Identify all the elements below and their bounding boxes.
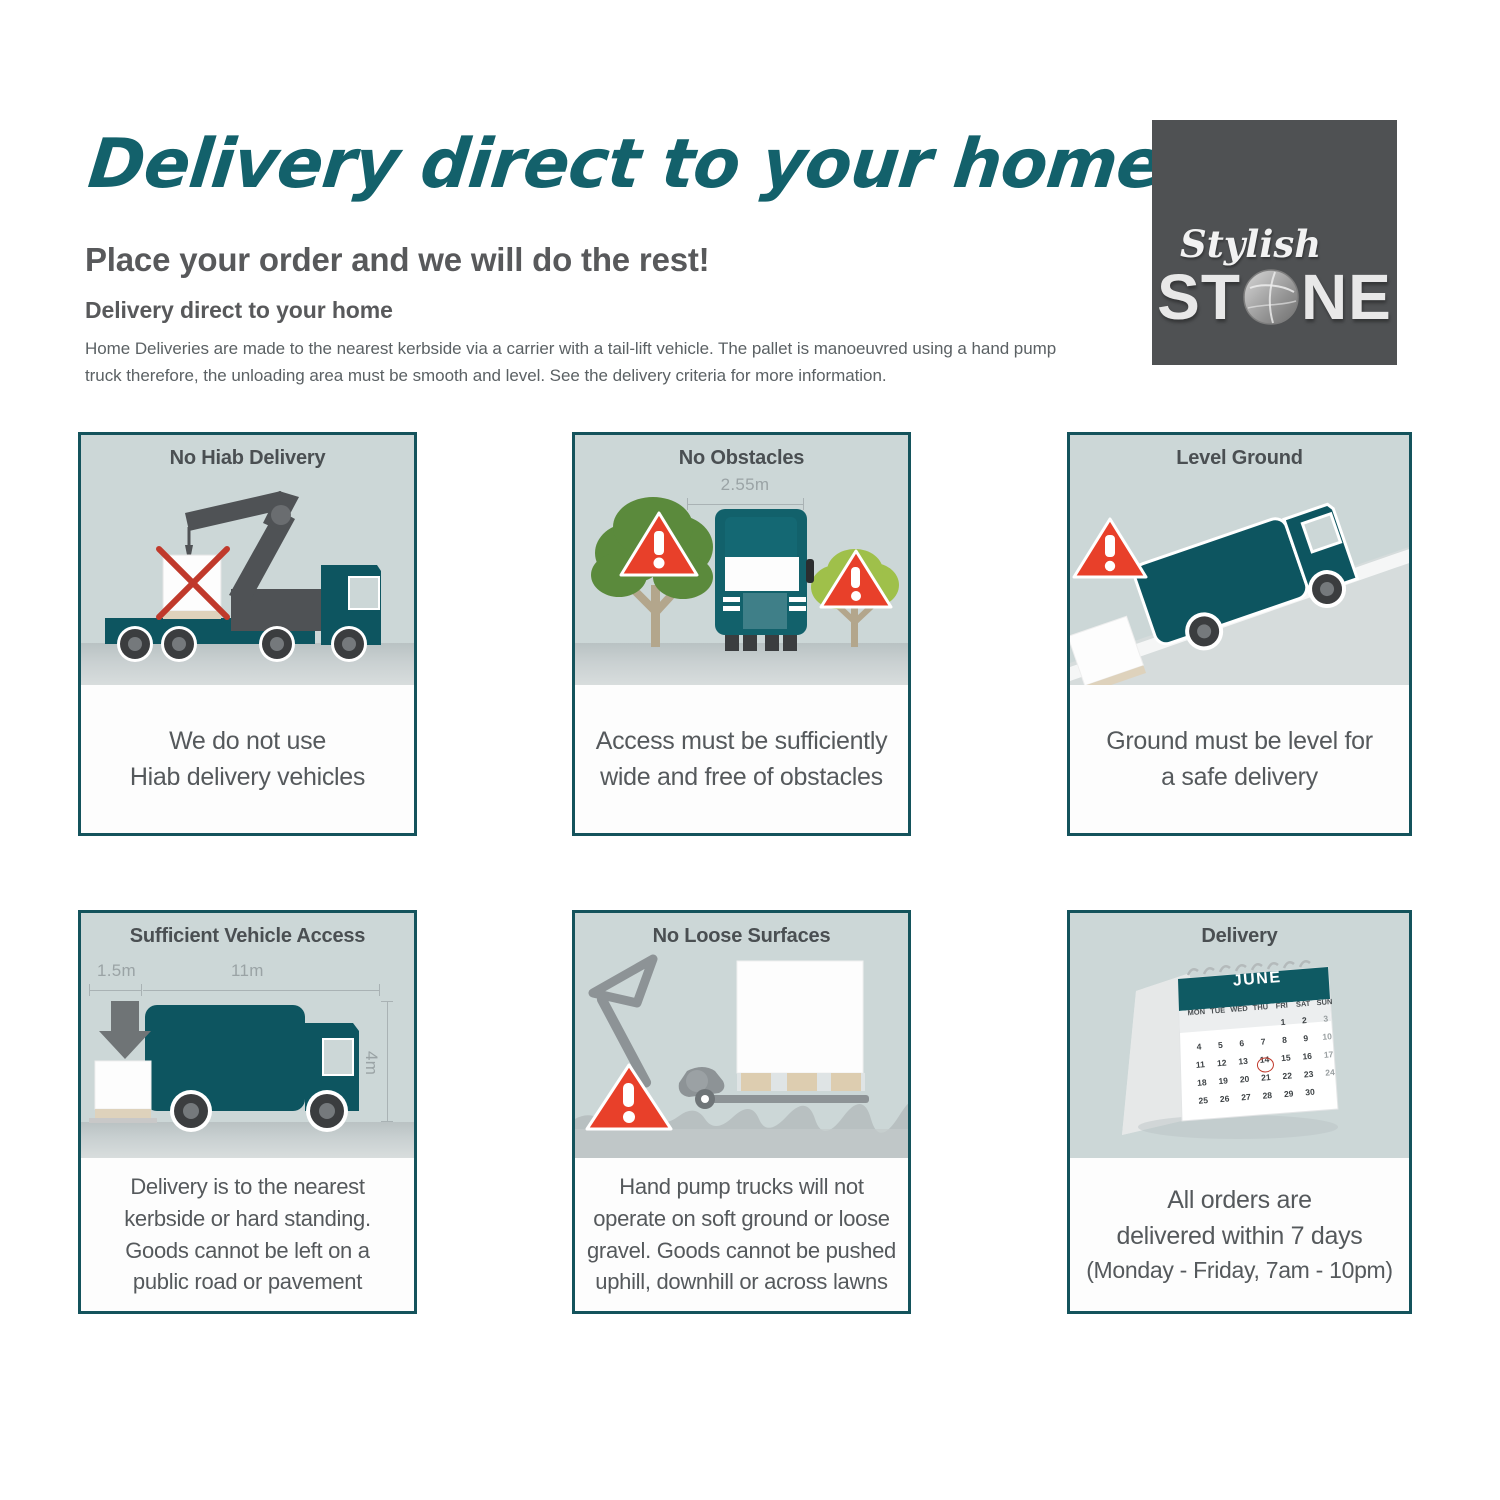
front-truck-with-trees-illustration bbox=[575, 435, 908, 685]
calendar-day: 6 bbox=[1231, 1037, 1254, 1057]
calendar-day: 28 bbox=[1256, 1090, 1279, 1110]
card-illustration-loose-surfaces: No Loose Surfaces bbox=[575, 913, 908, 1158]
card-illustration-obstacles: No Obstacles 2.55m bbox=[575, 435, 908, 685]
caption-subline: (Monday - Friday, 7am - 10pm) bbox=[1086, 1254, 1393, 1287]
calendar-highlight-circle bbox=[1257, 1056, 1275, 1072]
hiab-truck-illustration bbox=[81, 435, 414, 685]
logo-script-text: Stylish bbox=[1180, 226, 1321, 263]
calendar-day: 23 bbox=[1298, 1068, 1321, 1088]
calendar-day: 30 bbox=[1299, 1086, 1322, 1106]
calendar-day-highlighted: 14 bbox=[1253, 1054, 1276, 1074]
card-no-loose-surfaces: No Loose Surfaces bbox=[572, 910, 911, 1314]
card-title: Delivery bbox=[1070, 925, 1409, 948]
weekday-sun: SUN bbox=[1313, 997, 1335, 1008]
page-title: Delivery direct to your home bbox=[85, 128, 1093, 201]
card-title: No Loose Surfaces bbox=[575, 925, 908, 948]
card-no-obstacles: No Obstacles 2.55m bbox=[572, 432, 911, 836]
calendar-day: 18 bbox=[1191, 1077, 1214, 1097]
calendar-day: 20 bbox=[1233, 1073, 1256, 1093]
card-illustration-calendar: Delivery bbox=[1070, 913, 1409, 1158]
logo-word-part1: ST bbox=[1157, 265, 1241, 329]
warning-triangle-icon bbox=[1074, 519, 1146, 577]
calendar-month-label: JUNE bbox=[1179, 965, 1336, 995]
tilted-truck-on-slope-illustration bbox=[1070, 435, 1409, 685]
card-caption: Hand pump trucks will not operate on sof… bbox=[575, 1158, 908, 1311]
pallet-truck-on-gravel-illustration bbox=[575, 913, 908, 1158]
card-illustration-vehicle-access: Sufficient Vehicle Access 1.5m 11m 4m bbox=[81, 913, 414, 1158]
calendar-day: 12 bbox=[1211, 1057, 1234, 1077]
intro-paragraph: Home Deliveries are made to the nearest … bbox=[85, 336, 1085, 389]
card-title: No Obstacles bbox=[575, 447, 908, 470]
caption-line: delivered within 7 days bbox=[1116, 1222, 1362, 1250]
card-sufficient-vehicle-access: Sufficient Vehicle Access 1.5m 11m 4m bbox=[78, 910, 417, 1314]
calendar-day: 15 bbox=[1275, 1052, 1298, 1072]
calendar-day: 19 bbox=[1212, 1075, 1235, 1095]
calendar-day bbox=[1229, 1019, 1252, 1039]
calendar-day: 29 bbox=[1278, 1088, 1301, 1108]
caption-line: operate on soft ground or loose bbox=[593, 1206, 889, 1231]
logo-wordmark: ST NE bbox=[1157, 265, 1392, 329]
card-caption: Ground must be level for a safe delivery bbox=[1070, 685, 1409, 833]
calendar-day bbox=[1320, 1085, 1343, 1105]
card-no-hiab-delivery: No Hiab Delivery bbox=[78, 432, 417, 836]
calendar-day: 13 bbox=[1232, 1055, 1255, 1075]
calendar-day: 8 bbox=[1273, 1034, 1296, 1054]
weekday-wed: WED bbox=[1228, 1004, 1250, 1015]
caption-line: All orders are bbox=[1167, 1186, 1311, 1214]
caption-line: Goods cannot be left on a bbox=[125, 1238, 369, 1263]
calendar-day: 25 bbox=[1192, 1095, 1215, 1115]
calendar-day: 10 bbox=[1316, 1031, 1339, 1051]
calendar-day: 16 bbox=[1296, 1050, 1319, 1070]
calendar-day: 4 bbox=[1188, 1041, 1211, 1061]
card-level-ground: Level Ground bbox=[1067, 432, 1412, 836]
logo-word-part2: NE bbox=[1301, 265, 1392, 329]
warning-triangle-icon bbox=[587, 1065, 671, 1129]
calendar-day bbox=[1251, 1018, 1274, 1038]
caption-line: We do not use bbox=[169, 727, 326, 755]
truck-front-view bbox=[715, 509, 814, 651]
card-delivery: Delivery bbox=[1067, 910, 1412, 1314]
card-title: No Hiab Delivery bbox=[81, 447, 414, 470]
calendar-day: 7 bbox=[1252, 1036, 1275, 1056]
card-title: Sufficient Vehicle Access bbox=[81, 925, 414, 948]
page-subheading: Place your order and we will do the rest… bbox=[85, 241, 1085, 279]
card-illustration-hiab: No Hiab Delivery bbox=[81, 435, 414, 685]
caption-line: public road or pavement bbox=[133, 1269, 362, 1294]
calendar-day: 26 bbox=[1214, 1093, 1237, 1113]
caption-line: Delivery is to the nearest bbox=[130, 1174, 364, 1199]
calendar-day: 1 bbox=[1272, 1016, 1295, 1036]
card-title: Level Ground bbox=[1070, 447, 1409, 470]
calendar-day: 27 bbox=[1235, 1091, 1258, 1111]
calendar-day bbox=[1208, 1021, 1231, 1041]
brand-logo: Stylish ST NE bbox=[1152, 120, 1397, 365]
weekday-fri: FRI bbox=[1271, 1000, 1293, 1011]
calendar-day-grid: 1 2 3 4 5 6 7 8 9 10 11 bbox=[1187, 1013, 1344, 1114]
calendar-day: 11 bbox=[1189, 1059, 1212, 1079]
caption-line: Ground must be level for bbox=[1106, 727, 1373, 755]
stone-pebble-icon bbox=[1242, 268, 1300, 326]
card-caption: All orders are delivered within 7 days (… bbox=[1070, 1158, 1409, 1311]
calendar-day: 9 bbox=[1295, 1032, 1318, 1052]
calendar-day: 2 bbox=[1293, 1014, 1316, 1034]
caption-line: kerbside or hard standing. bbox=[124, 1206, 371, 1231]
section-title: Delivery direct to your home bbox=[85, 297, 1085, 324]
weekday-mon: MON bbox=[1185, 1007, 1207, 1018]
card-caption: We do not use Hiab delivery vehicles bbox=[81, 685, 414, 833]
caption-line: Hiab delivery vehicles bbox=[130, 763, 365, 791]
calendar-day: 24 bbox=[1319, 1067, 1342, 1087]
weekday-tue: TUE bbox=[1207, 1005, 1229, 1016]
card-illustration-level-ground: Level Ground bbox=[1070, 435, 1409, 685]
calendar-day: 17 bbox=[1317, 1049, 1340, 1069]
caption-line: gravel. Goods cannot be pushed bbox=[587, 1238, 896, 1263]
calendar-face: JUNE MON TUE WED THU FRI SAT SUN bbox=[1178, 955, 1346, 1122]
weekday-thu: THU bbox=[1249, 1002, 1271, 1013]
caption-line: Hand pump trucks will not bbox=[619, 1174, 863, 1199]
card-caption: Access must be sufficiently wide and fre… bbox=[575, 685, 908, 833]
calendar-day: 3 bbox=[1315, 1013, 1338, 1033]
caption-line: a safe delivery bbox=[1161, 763, 1318, 791]
side-truck-with-pallet-illustration bbox=[81, 913, 414, 1158]
calendar-day bbox=[1187, 1023, 1210, 1043]
calendar-day: 21 bbox=[1255, 1072, 1278, 1092]
calendar-day: 22 bbox=[1276, 1070, 1299, 1090]
page-header: Delivery direct to your home Place your … bbox=[85, 128, 1085, 389]
caption-line: Access must be sufficiently bbox=[596, 727, 888, 755]
caption-line: uphill, downhill or across lawns bbox=[595, 1269, 887, 1294]
caption-line: wide and free of obstacles bbox=[600, 763, 883, 791]
card-caption: Delivery is to the nearest kerbside or h… bbox=[81, 1158, 414, 1311]
weekday-sat: SAT bbox=[1292, 998, 1314, 1009]
calendar-day: 5 bbox=[1209, 1039, 1232, 1059]
